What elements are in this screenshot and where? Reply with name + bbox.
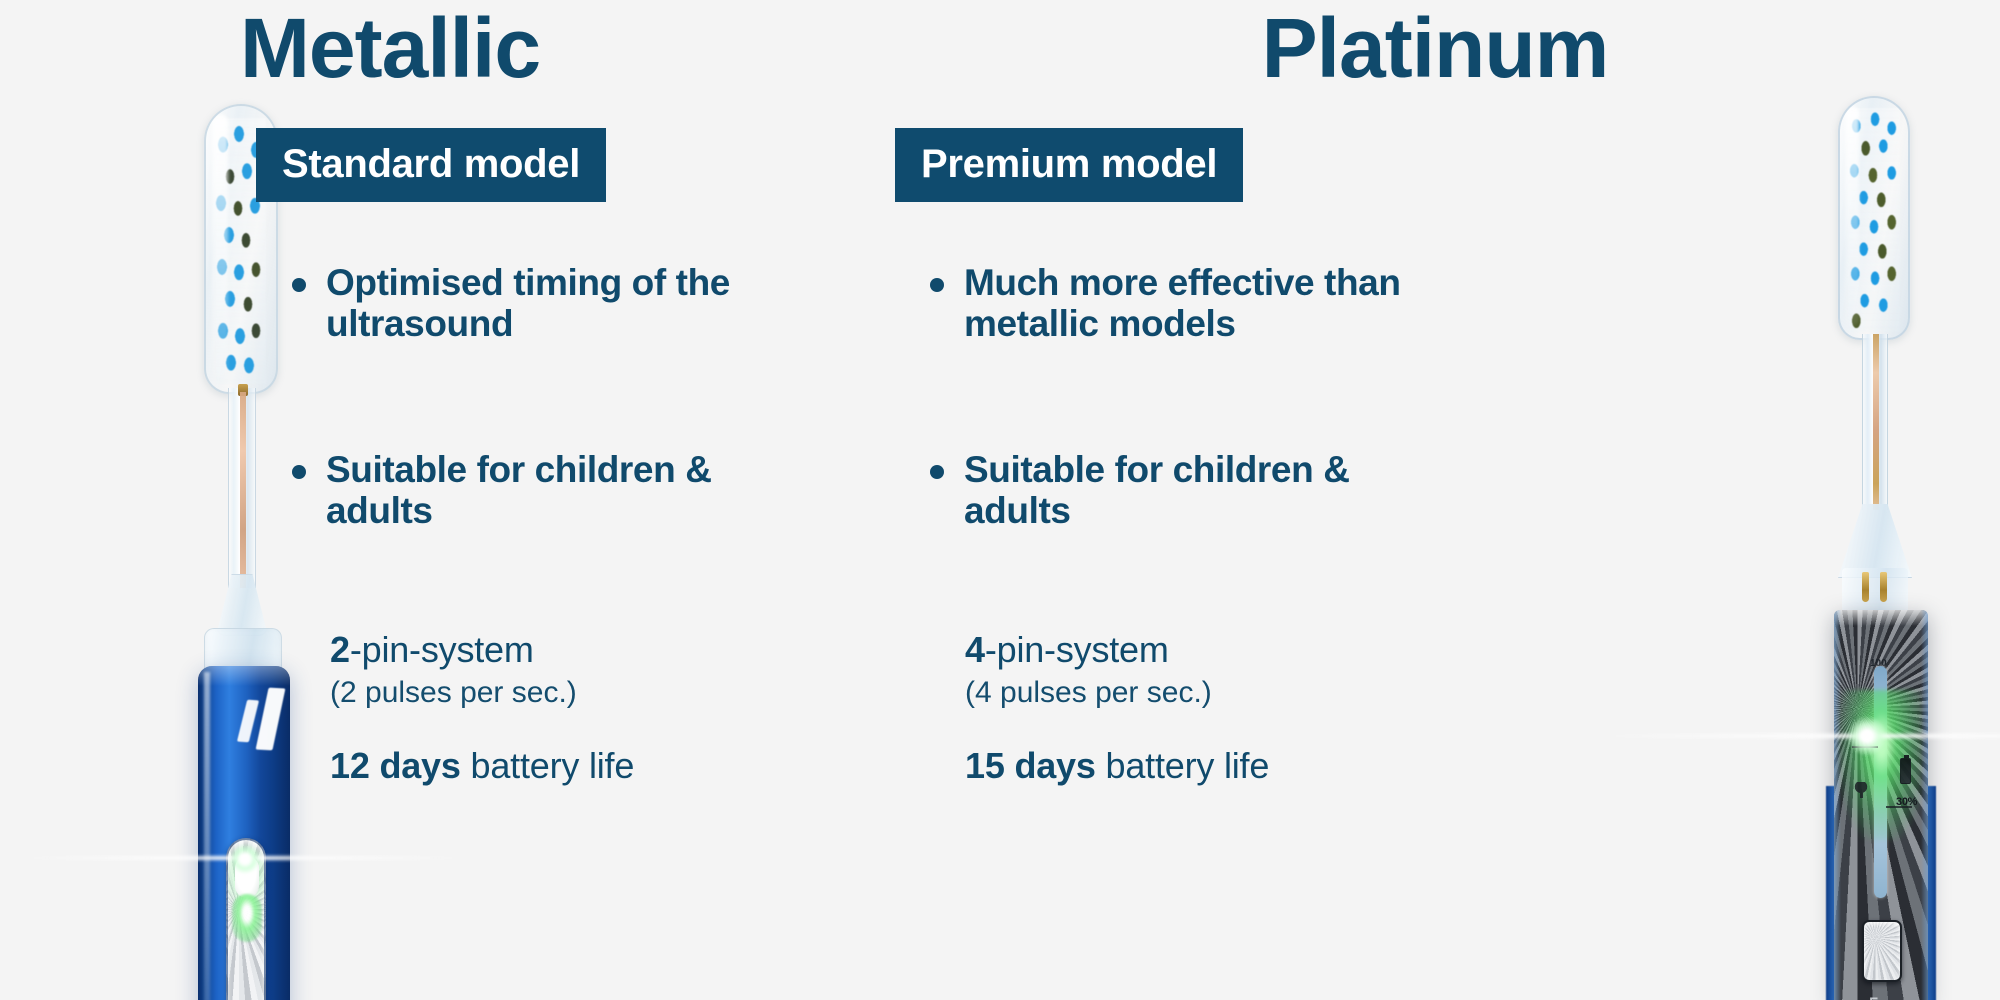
feature-item: Suitable for children & adults (930, 449, 1430, 532)
plug-icon (1854, 782, 1868, 798)
spec-pin-system: 2-pin-system (330, 630, 634, 670)
spec-pulses: (4 pulses per sec.) (965, 674, 1269, 712)
feature-text: Optimised timing of the ultrasound (326, 262, 730, 344)
head-highlight-platinum (1845, 106, 1859, 326)
product-title-platinum: Platinum (935, 6, 1935, 90)
handle-body-metallic (198, 666, 290, 1000)
bullet-dot-icon (292, 465, 306, 479)
internal-wire-metallic (240, 392, 246, 588)
lens-flare-core-platinum (1847, 716, 1887, 756)
contact-pin (1862, 572, 1869, 602)
feature-item: Suitable for children & adults (292, 449, 762, 532)
bullet-dot-icon (292, 278, 306, 292)
handle-body-platinum: 100 30% E (1834, 610, 1928, 1000)
battery-days: 15 days (965, 745, 1096, 786)
feature-text: Much more effective than metallic models (964, 262, 1401, 344)
spec-battery-life: 15 days battery life (965, 746, 1269, 786)
contact-pins-platinum (1856, 572, 1894, 606)
pin-count: 2 (330, 629, 350, 670)
feature-item: Much more effective than metallic models (930, 262, 1430, 345)
brush-head-platinum (1838, 96, 1910, 340)
feature-list-metallic: Optimised timing of the ultrasound Suita… (292, 262, 762, 532)
contact-pin (1880, 572, 1887, 602)
bullet-dot-icon (930, 465, 944, 479)
brush-collar-metallic (216, 574, 268, 636)
internal-wire-platinum (1873, 334, 1879, 510)
toothbrush-image-metallic (178, 104, 308, 1000)
spec-battery-life: 12 days battery life (330, 746, 634, 786)
status-led-metallic (232, 894, 262, 942)
toothbrush-image-platinum: 100 30% E (1816, 96, 1946, 1000)
feature-list-platinum: Much more effective than metallic models… (930, 262, 1430, 532)
handle-specular-a-metallic (237, 700, 259, 743)
handle-edge-right-platinum (1921, 610, 1928, 1000)
handle-top-highlight-metallic (198, 666, 290, 686)
handle-edge-gloss-metallic (204, 672, 210, 1000)
badge-premium-model: Premium model (895, 128, 1243, 202)
pin-system-label: -pin-system (350, 629, 534, 670)
power-button-platinum[interactable] (1862, 920, 1902, 982)
product-column-platinum: Platinum 100 (1000, 0, 2000, 1000)
feature-item: Optimised timing of the ultrasound (292, 262, 762, 345)
spec-pulses: (2 pulses per sec.) (330, 674, 634, 712)
brush-neck-platinum (1862, 334, 1888, 510)
lens-flare-streak-platinum (1586, 734, 2000, 738)
brush-funnel-platinum (1838, 504, 1912, 578)
battery-icon (1900, 758, 1911, 784)
spec-pin-system: 4-pin-system (965, 630, 1269, 670)
battery-life-label: battery life (461, 745, 634, 786)
gauge-percent-label: 30% (1896, 796, 1917, 808)
battery-life-label: battery life (1096, 745, 1269, 786)
brand-logo-platinum: E (1869, 994, 1879, 1000)
feature-text: Suitable for children & adults (964, 449, 1350, 531)
handle-specular-b-metallic (256, 688, 286, 751)
pin-system-label: -pin-system (985, 629, 1169, 670)
head-highlight-metallic (212, 114, 228, 378)
feature-text: Suitable for children & adults (326, 449, 712, 531)
spec-list-metallic: 2-pin-system (2 pulses per sec.) 12 days… (330, 630, 634, 786)
product-title-metallic: Metallic (0, 6, 890, 90)
spec-list-platinum: 4-pin-system (4 pulses per sec.) 15 days… (965, 630, 1269, 786)
brush-neck-metallic (228, 388, 256, 588)
product-column-metallic: Metallic (0, 0, 1000, 1000)
bullet-dot-icon (930, 278, 944, 292)
handle-top-highlight-platinum (1834, 610, 1928, 626)
pin-count: 4 (965, 629, 985, 670)
lens-flare-core-metallic (230, 844, 260, 874)
badge-standard-model: Standard model (256, 128, 606, 202)
comparison-infographic: Metallic (0, 0, 2000, 1000)
battery-days: 12 days (330, 745, 461, 786)
